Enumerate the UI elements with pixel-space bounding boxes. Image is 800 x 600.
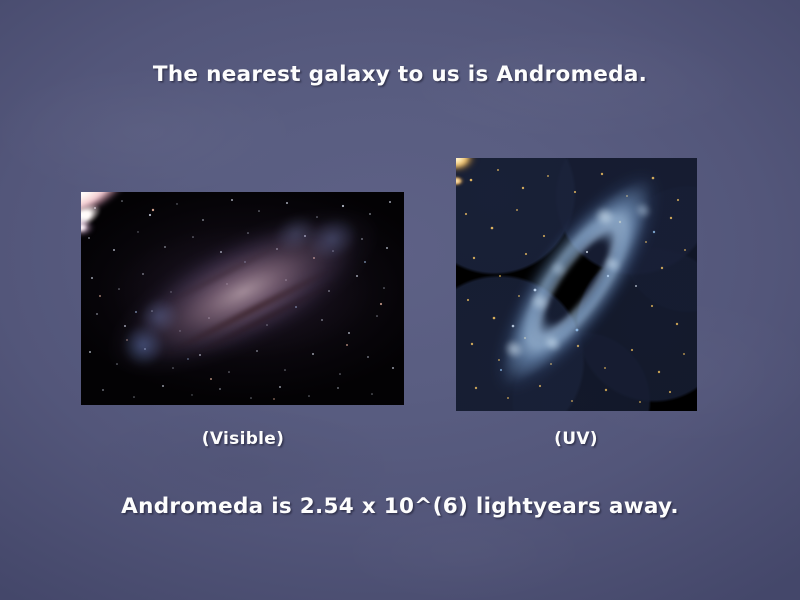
slide-canvas: The nearest galaxy to us is Andromeda. bbox=[0, 0, 800, 600]
galaxy-image-uv bbox=[456, 158, 697, 411]
caption-uv: (UV) bbox=[476, 429, 676, 449]
page-title: The nearest galaxy to us is Andromeda. bbox=[0, 62, 800, 87]
slide-footer-text: Andromeda is 2.54 x 10^(6) lightyears aw… bbox=[0, 494, 800, 519]
galaxy-image-visible bbox=[81, 192, 404, 405]
caption-visible: (Visible) bbox=[143, 429, 343, 449]
